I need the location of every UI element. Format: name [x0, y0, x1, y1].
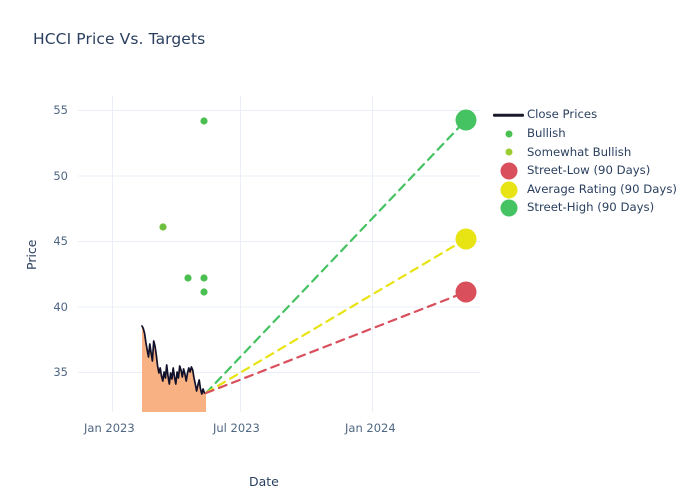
- legend-swatch-dot-icon: [491, 162, 527, 180]
- chart-root: HCCI Price Vs. Targets: [0, 0, 700, 500]
- legend-item-bullish[interactable]: Bullish: [491, 125, 696, 144]
- scatter-point-bullish: [200, 117, 207, 124]
- scatter-point-bullish: [184, 274, 191, 281]
- legend-swatch-dot-icon: [491, 181, 527, 199]
- y-tick-label: 45: [40, 234, 68, 248]
- legend-swatch-dot-icon: [491, 125, 527, 143]
- marker-average-rating[interactable]: [456, 229, 477, 250]
- legend-label: Street-High (90 Days): [527, 202, 654, 214]
- legend-item-somewhat-bullish[interactable]: Somewhat Bullish: [491, 143, 696, 162]
- x-axis-title: Date: [249, 474, 279, 489]
- legend-item-street-high[interactable]: Street-High (90 Days): [491, 199, 696, 218]
- y-tick-label: 35: [40, 365, 68, 379]
- target-line-average-rating: [206, 239, 466, 393]
- legend-label: Close Prices: [527, 109, 597, 121]
- scatter-point-bullish: [200, 274, 207, 281]
- x-tick-label: Jul 2023: [213, 421, 260, 435]
- scatter-point-bullish: [200, 288, 207, 295]
- legend-item-average-rating[interactable]: Average Rating (90 Days): [491, 180, 696, 199]
- y-axis-title: Price: [24, 240, 39, 271]
- y-tick-label: 40: [40, 300, 68, 314]
- legend-item-close-prices[interactable]: Close Prices: [491, 106, 696, 125]
- legend-swatch-dot-icon: [491, 199, 527, 217]
- legend-swatch-dot-icon: [491, 143, 527, 161]
- y-tick-label: 50: [40, 169, 68, 183]
- legend-item-street-low[interactable]: Street-Low (90 Days): [491, 162, 696, 181]
- legend-label: Average Rating (90 Days): [527, 184, 677, 196]
- marker-street-high[interactable]: [456, 110, 477, 131]
- y-tick-label: 55: [40, 103, 68, 117]
- legend-swatch-line-icon: [491, 106, 527, 124]
- scatter-bullish-points: [159, 117, 207, 295]
- marker-street-low[interactable]: [456, 282, 477, 303]
- x-tick-label: Jan 2024: [345, 421, 396, 435]
- scatter-point-bullish: [159, 223, 166, 230]
- legend-label: Bullish: [527, 128, 566, 140]
- target-line-street-high: [206, 120, 466, 393]
- legend-label: Street-Low (90 Days): [527, 165, 650, 177]
- legend-label: Somewhat Bullish: [527, 147, 631, 159]
- x-tick-label: Jan 2023: [84, 421, 135, 435]
- chart-legend: Close Prices Bullish Somewhat Bullish St…: [491, 106, 696, 218]
